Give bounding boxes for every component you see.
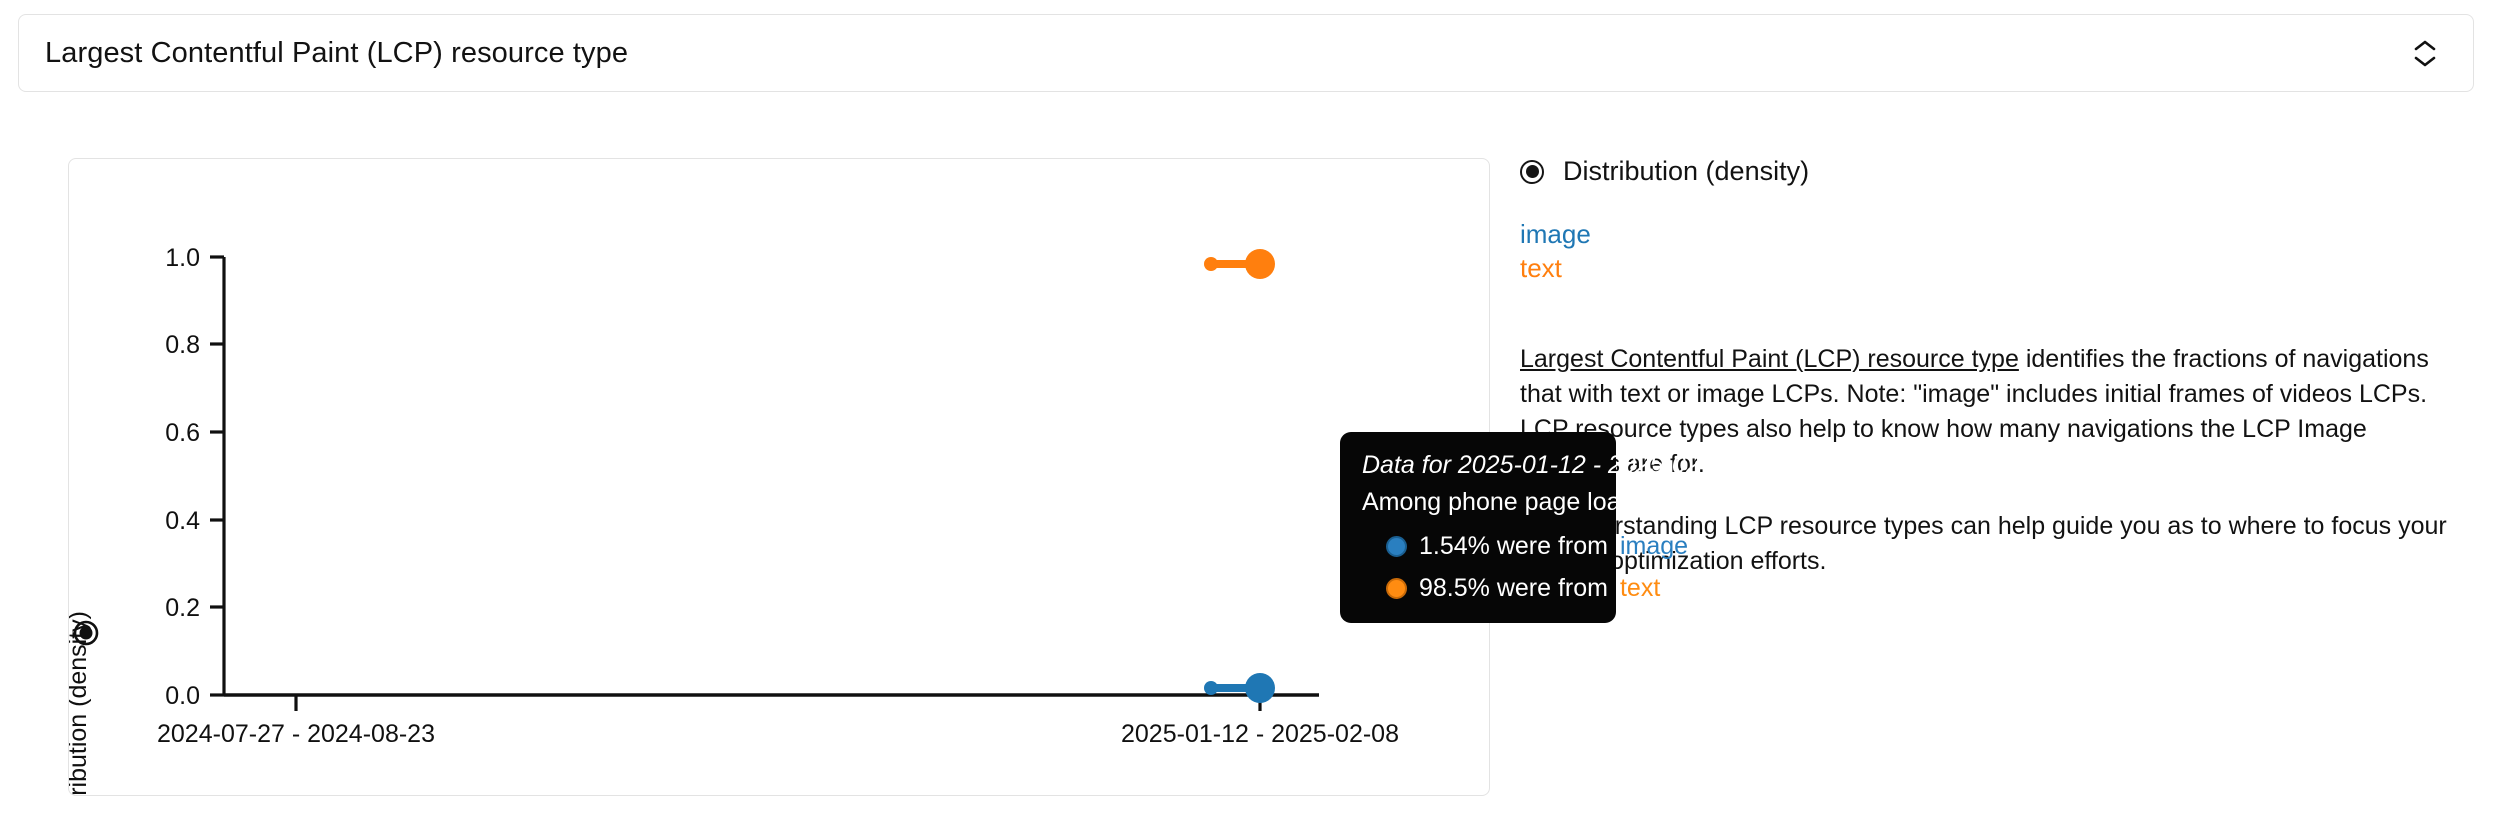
data-point-text-right [1245,249,1275,279]
y-tick-label: 1.0 [165,244,200,272]
chart-card: 1.0 0.8 0.6 0.4 0.2 0.0 Distribution (de… [68,158,1490,796]
y-tick-label: 0.0 [165,682,200,710]
x-tick-label: 2025-01-12 - 2025-02-08 [1121,720,1399,748]
chart-side-panel: Distribution (density) image text Larges… [1520,100,2480,579]
panel-header[interactable]: Largest Contentful Paint (LCP) resource … [18,14,2474,92]
tooltip-row-image-text: 1.54% were from [1419,532,1608,561]
metric-radio-label: Distribution (density) [1563,156,1809,187]
chart-tooltip: Data for 2025-01-12 - 2025-02-08 Among p… [1340,432,1616,623]
tooltip-row-text-series: text [1620,574,1660,603]
y-axis-ticks [210,257,224,695]
page-title: Largest Contentful Paint (LCP) resource … [45,36,628,71]
metric-tip-text: Understanding LCP resource types can hel… [1555,509,2450,580]
tooltip-row-text: 98.5% were from text [1362,574,1594,603]
x-axis-ticks [296,695,1260,711]
y-tick-label: 0.2 [165,594,200,622]
data-point-image-left [1204,681,1218,695]
y-tick-label: 0.8 [165,331,200,359]
y-axis-title: Distribution (density) [69,611,92,795]
series-text[interactable] [1204,249,1275,279]
y-tick-label: 0.4 [165,507,200,535]
metric-radio-distribution-density[interactable]: Distribution (density) [1520,156,2480,187]
metric-description-link[interactable]: Largest Contentful Paint (LCP) resource … [1520,345,2019,373]
tooltip-row-image-series: image [1620,532,1688,561]
series-image[interactable] [1204,673,1275,703]
chevron-down-icon [2414,55,2436,68]
panel-body: 1.0 0.8 0.6 0.4 0.2 0.0 Distribution (de… [0,100,2512,820]
x-tick-label: 2024-07-27 - 2024-08-23 [157,720,435,748]
chevron-up-icon [2414,39,2436,52]
legend-item-image[interactable]: image [1520,217,2480,251]
chart-legend: image text [1520,217,2480,286]
tooltip-header: Data for 2025-01-12 - 2025-02-08 [1362,449,1594,483]
legend-item-text[interactable]: text [1520,251,2480,285]
y-axis-title-group[interactable]: Distribution (density) [69,611,97,795]
chevron-up-down-icon[interactable] [2405,27,2445,79]
tooltip-subheader: Among phone page loads, [1362,486,1594,520]
tooltip-row-image: 1.54% were from image [1362,532,1594,561]
data-point-image-right [1245,673,1275,703]
tooltip-row-text-text: 98.5% were from [1419,574,1608,603]
radio-selected-icon [1520,160,1544,184]
tooltip-dot-image [1386,536,1407,557]
data-point-text-left [1204,257,1218,271]
lcp-resource-type-chart[interactable]: 1.0 0.8 0.6 0.4 0.2 0.0 Distribution (de… [69,159,1489,795]
y-tick-label: 0.6 [165,419,200,447]
tooltip-dot-text [1386,578,1407,599]
